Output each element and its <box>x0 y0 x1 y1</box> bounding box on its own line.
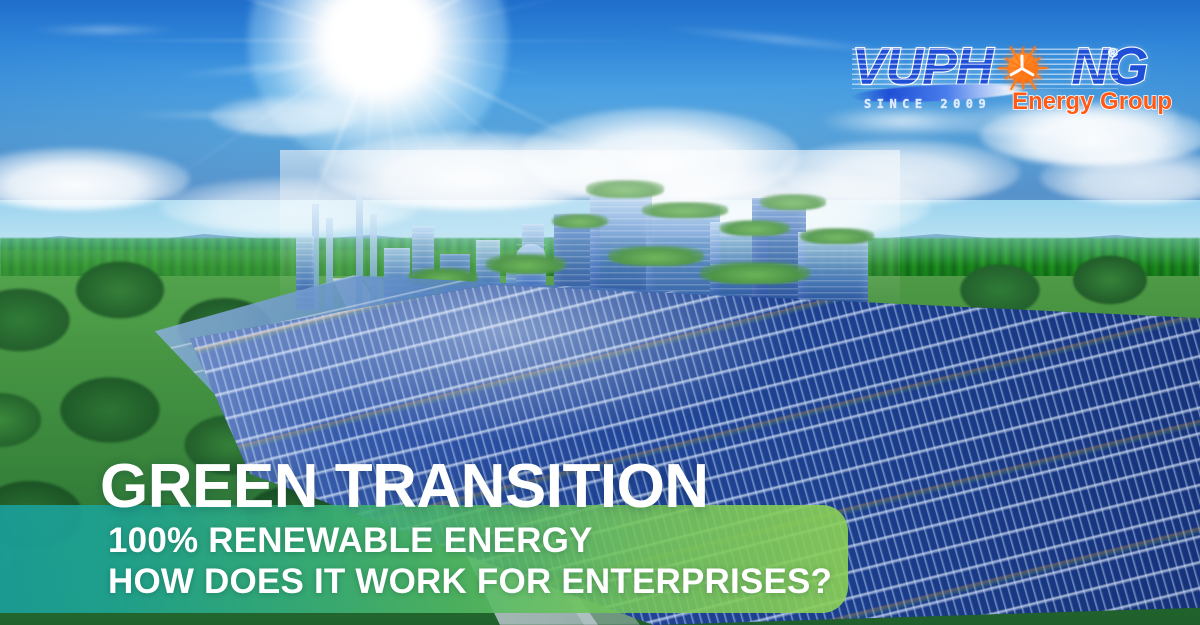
rooftop-garden <box>586 180 664 198</box>
sun-turbine-icon <box>996 41 1050 95</box>
banner-image: GREEN TRANSITION 100% RENEWABLE ENERGY H… <box>0 0 1200 625</box>
page-title: GREEN TRANSITION <box>100 456 709 518</box>
logo-since-text: SINCE 2009 <box>864 97 991 111</box>
cloud-wisp <box>120 112 300 118</box>
registered-trademark-icon: ® <box>1108 45 1118 60</box>
rooftop-garden <box>760 194 826 210</box>
rooftop-garden <box>800 228 874 244</box>
subtitle-line-1: 100% RENEWABLE ENERGY <box>108 523 593 558</box>
rooftop-garden <box>720 220 790 236</box>
turbine-blade <box>1021 55 1024 69</box>
sun-ray <box>378 40 678 42</box>
rooftop-garden <box>608 246 704 266</box>
subtitle-line-2: HOW DOES IT WORK FOR ENTERPRISES? <box>108 564 832 599</box>
vuphong-logo[interactable]: VUPHOONG ® SINCE 2009 Energy Group <box>846 33 1166 129</box>
sun-ray <box>78 40 378 42</box>
cloud-wisp <box>30 26 180 34</box>
rooftop-garden <box>552 214 608 228</box>
rooftop-garden <box>700 262 810 284</box>
rooftop-garden <box>642 202 728 218</box>
logo-tagline: Energy Group <box>1012 90 1172 114</box>
rooftop-garden <box>486 254 566 274</box>
